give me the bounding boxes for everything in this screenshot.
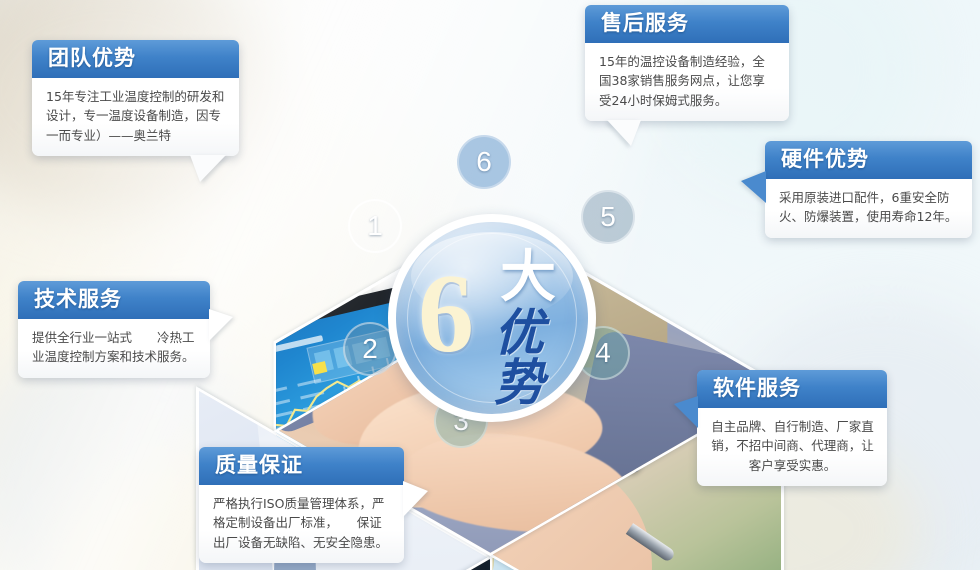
emblem-advantage-text: 优势 [494,308,588,408]
card-pointer-tail [674,396,698,428]
callout-card-technical[interactable]: 技术服务 提供全行业一站式 冷热工业温度控制方案和技术服务。 [18,281,210,378]
emblem-measure-word: 大 [500,250,556,306]
card-pointer-tail [741,171,766,203]
badge-number: 4 [595,339,611,367]
card-body: 自主品牌、自行制造、厂家直销，不招中间商、代理商，让客户享受实惠。 [697,408,887,486]
card-title: 质量保证 [199,447,404,485]
callout-card-hardware[interactable]: 硬件优势 采用原装进口配件，6重安全防火、防爆装置，使用寿命12年。 [765,141,972,238]
card-body: 严格执行ISO质量管理体系，严格定制设备出厂标准， 保证出厂设备无缺陷、无安全隐… [199,485,404,563]
card-body: 15年的温控设备制造经验，全国38家销售服务网点，让您享受24小时保姆式服务。 [585,43,789,121]
card-pointer-tail [190,155,226,182]
card-pointer-tail [607,120,641,146]
infographic-poster: 1 2 3 4 5 6 6 大 优势 团队优势 15年专注工业温度控制的研发和设… [0,0,980,570]
callout-card-software[interactable]: 软件服务 自主品牌、自行制造、厂家直销，不招中间商、代理商，让客户享受实惠。 [697,370,887,486]
callout-card-team[interactable]: 团队优势 15年专注工业温度控制的研发和设计，专一温度设备制造，因专一而专业）—… [32,40,239,156]
segment-badge-6[interactable]: 6 [457,135,511,189]
badge-number: 5 [600,203,616,231]
card-title: 团队优势 [32,40,239,78]
card-body: 提供全行业一站式 冷热工业温度控制方案和技术服务。 [18,319,210,378]
card-pointer-tail [209,309,233,341]
card-title: 售后服务 [585,5,789,43]
emblem-number: 6 [418,258,474,370]
card-title: 技术服务 [18,281,210,319]
card-pointer-tail [403,481,428,517]
center-emblem[interactable]: 6 大 优势 [396,222,588,414]
card-body: 15年专注工业温度控制的研发和设计，专一温度设备制造，因专一而专业）——奥兰特 [32,78,239,156]
segment-badge-1[interactable]: 1 [348,199,402,253]
badge-number: 1 [367,212,383,240]
callout-card-after-sales[interactable]: 售后服务 15年的温控设备制造经验，全国38家销售服务网点，让您享受24小时保姆… [585,5,789,121]
segment-badge-5[interactable]: 5 [581,190,635,244]
badge-number: 2 [362,335,378,363]
badge-number: 6 [476,148,492,176]
card-body: 采用原装进口配件，6重安全防火、防爆装置，使用寿命12年。 [765,179,972,238]
callout-card-quality[interactable]: 质量保证 严格执行ISO质量管理体系，严格定制设备出厂标准， 保证出厂设备无缺陷… [199,447,404,563]
card-title: 软件服务 [697,370,887,408]
card-title: 硬件优势 [765,141,972,179]
